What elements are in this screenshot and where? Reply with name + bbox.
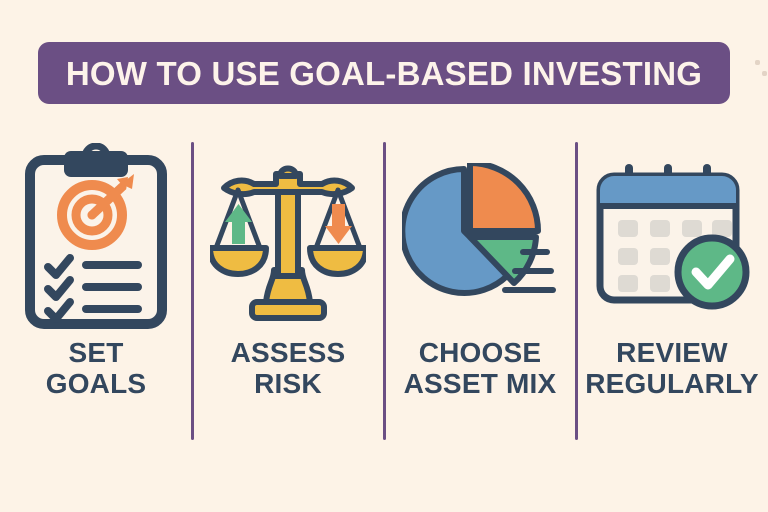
legend-line-2: [512, 268, 554, 274]
balance-scales-svg: [210, 152, 366, 324]
step-column-set-goals: SET GOALS: [0, 140, 192, 440]
title-banner: HOW TO USE GOAL-BASED INVESTING: [38, 42, 730, 104]
pie-chart-icon: [402, 140, 558, 335]
legend-line-1: [520, 249, 550, 255]
column-divider: [383, 142, 386, 440]
legend-line-3: [502, 287, 556, 293]
decorative-speck: [762, 71, 767, 76]
step-label-set-goals: SET GOALS: [46, 337, 147, 400]
balance-scales-icon: [210, 140, 366, 335]
calendar-check-svg: [592, 162, 752, 314]
pie-chart-svg: [402, 163, 558, 313]
step-column-review-regularly: REVIEW REGULARLY: [576, 140, 768, 440]
infographic-canvas: HOW TO USE GOAL-BASED INVESTING: [0, 0, 768, 512]
steps-row: SET GOALS: [0, 140, 768, 440]
step-label-assess-risk: ASSESS RISK: [231, 337, 346, 400]
step-column-assess-risk: ASSESS RISK: [192, 140, 384, 440]
column-divider: [575, 142, 578, 440]
step-label-choose-asset-mix: CHOOSE ASSET MIX: [404, 337, 557, 400]
step-label-review-regularly: REVIEW REGULARLY: [585, 337, 758, 400]
clipboard-target-icon: [20, 140, 172, 335]
step-column-choose-asset-mix: CHOOSE ASSET MIX: [384, 140, 576, 440]
column-divider: [191, 142, 194, 440]
clipboard-target-svg: [20, 143, 172, 333]
page-title: HOW TO USE GOAL-BASED INVESTING: [66, 57, 702, 90]
calendar-check-icon: [592, 140, 752, 335]
decorative-speck: [755, 60, 760, 65]
